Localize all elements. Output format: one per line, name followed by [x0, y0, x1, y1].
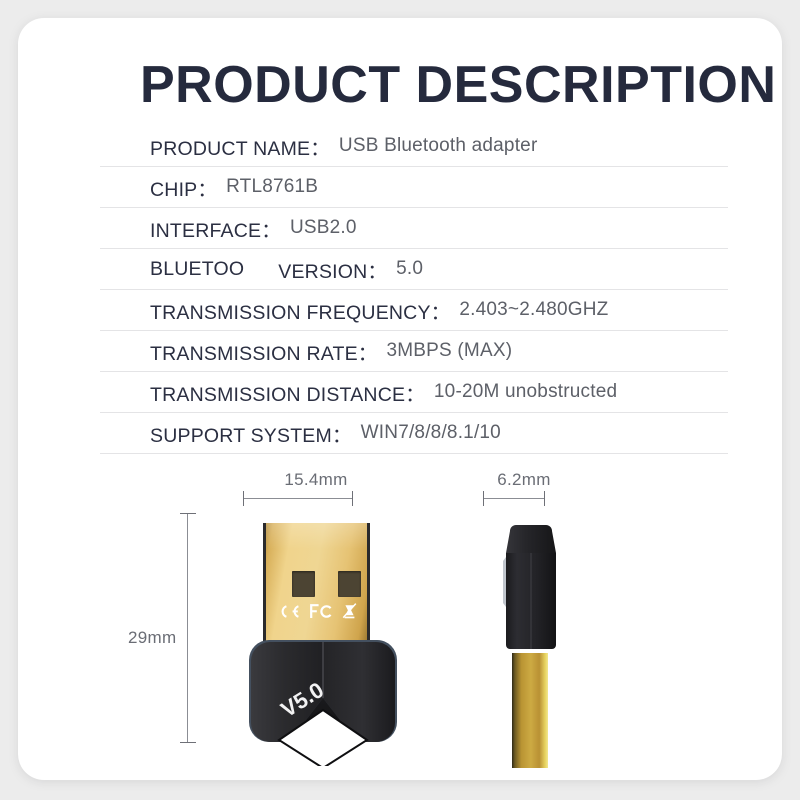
table-row: CHIP： RTL8761B [100, 167, 728, 208]
product-description-card: PRODUCT DESCRIPTION PRODUCT NAME： USB Bl… [18, 18, 782, 780]
spec-label: TRANSMISSION DISTANCE： [150, 378, 425, 407]
spec-label: PRODUCT NAME： [150, 132, 330, 161]
adapter-body-side [502, 523, 560, 658]
spec-value: 3MBPS (MAX) [387, 340, 513, 362]
dimension-cap-right-front [352, 491, 353, 506]
dimension-cap-bottom-height [180, 742, 196, 743]
adapter-side-cap [506, 525, 556, 553]
spec-label: INTERFACE： [150, 214, 281, 243]
adapter-side-highlight [503, 557, 506, 607]
spec-value: 10-20M unobstructed [434, 381, 617, 403]
page-root: PRODUCT DESCRIPTION PRODUCT NAME： USB Bl… [0, 0, 800, 800]
dimension-label-width-side: 6.2mm [484, 470, 564, 490]
specification-table: PRODUCT NAME： USB Bluetooth adapter CHIP… [100, 126, 728, 454]
spec-value: RTL8761B [226, 176, 318, 198]
table-row: INTERFACE： USB2.0 [100, 208, 728, 249]
weee-mark-icon [342, 603, 357, 620]
spec-value: 2.403~2.480GHZ [459, 299, 608, 321]
spec-value: WIN7/8/8/8.1/10 [361, 422, 501, 444]
dimension-line-width-side [483, 498, 545, 499]
usb-blade-side [512, 653, 548, 768]
spec-label: TRANSMISSION RATE： [150, 337, 378, 366]
spec-label: SUPPORT SYSTEM： [150, 419, 352, 448]
product-image-front-view: V5.0 [243, 518, 403, 768]
spec-value: 5.0 [396, 258, 423, 280]
spec-value: USB Bluetooth adapter [339, 135, 538, 157]
fcc-mark-icon [310, 604, 333, 619]
dimension-line-height [187, 513, 188, 742]
dimension-cap-right-side [544, 491, 545, 506]
adapter-body: V5.0 [243, 636, 403, 766]
certification-marks [263, 598, 370, 624]
table-row: BLUETOO VERSION： 5.0 [100, 249, 728, 290]
spec-label: CHIP： [150, 173, 217, 202]
usb-contact-slot-right [338, 571, 361, 597]
dimension-line-width-front [243, 498, 353, 499]
spec-value: USB2.0 [290, 217, 357, 239]
dimension-cap-left-side [483, 491, 484, 506]
dimension-label-height: 29mm [128, 628, 176, 648]
dimension-cap-top-height [180, 513, 196, 514]
usb-connector-plate [263, 523, 370, 643]
spec-label: TRANSMISSION FREQUENCY： [150, 296, 450, 325]
product-image-side-view [488, 523, 578, 768]
usb-contact-slot-left [292, 571, 315, 597]
spec-label: BLUETOO [150, 258, 244, 281]
dimension-label-width-front: 15.4mm [256, 470, 376, 490]
table-row: TRANSMISSION DISTANCE： 10-20M unobstruct… [100, 372, 728, 413]
dimension-cap-left-front [243, 491, 244, 506]
table-row: PRODUCT NAME： USB Bluetooth adapter [100, 126, 728, 167]
ce-mark-icon [277, 604, 301, 619]
table-row: TRANSMISSION RATE： 3MBPS (MAX) [100, 331, 728, 372]
table-row: SUPPORT SYSTEM： WIN7/8/8/8.1/10 [100, 413, 728, 454]
table-row: TRANSMISSION FREQUENCY： 2.403~2.480GHZ [100, 290, 728, 331]
page-title: PRODUCT DESCRIPTION [140, 56, 700, 114]
spec-label-secondary: VERSION： [278, 255, 387, 284]
